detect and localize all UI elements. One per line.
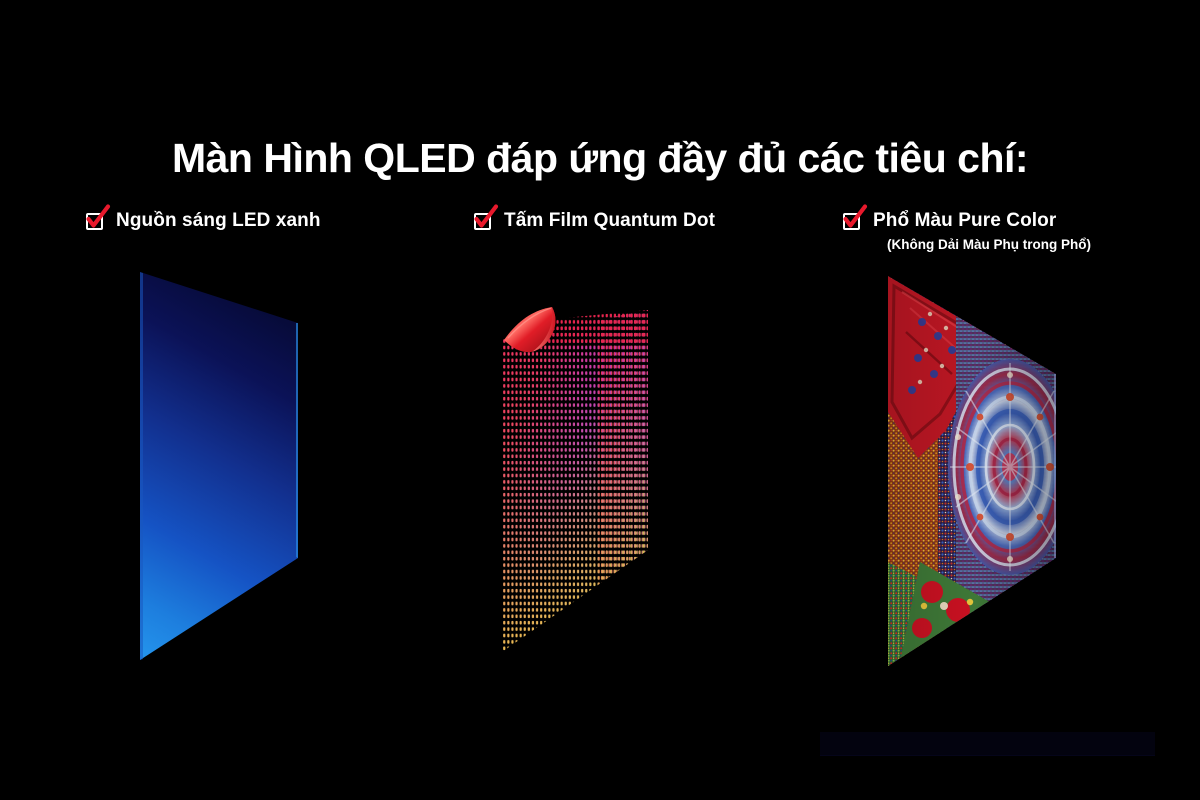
blue-panel-shape bbox=[110, 260, 320, 680]
check-mark-icon bbox=[842, 206, 868, 232]
checklist-item-labels: Tấm Film Quantum Dot bbox=[504, 208, 715, 234]
checklist-item-label: Phổ Màu Pure Color bbox=[873, 208, 1091, 234]
carpet-artwork bbox=[860, 262, 1070, 682]
check-mark-icon bbox=[85, 206, 111, 232]
quantum-dot-film-sheet bbox=[478, 300, 678, 670]
checklist-item-label: Nguồn sáng LED xanh bbox=[116, 208, 321, 234]
checkbox-checked-icon bbox=[86, 211, 107, 232]
slide-canvas: Màn Hình QLED đáp ứng đầy đủ các tiêu ch… bbox=[0, 0, 1200, 800]
checkbox-checked-icon bbox=[843, 211, 864, 232]
bottom-right-plate bbox=[820, 732, 1155, 756]
page-title: Màn Hình QLED đáp ứng đầy đủ các tiêu ch… bbox=[0, 132, 1200, 184]
checklist-item-label: Tấm Film Quantum Dot bbox=[504, 208, 715, 234]
check-mark-icon bbox=[473, 206, 499, 232]
quantum-dot-matrix bbox=[478, 300, 678, 670]
pure-color-carpet-image bbox=[860, 262, 1070, 682]
checklist-item-led-source: Nguồn sáng LED xanh bbox=[86, 208, 321, 234]
checklist-item-quantum-dot-film: Tấm Film Quantum Dot bbox=[474, 208, 715, 234]
blue-led-backlight-panel bbox=[110, 260, 320, 680]
checklist-item-sublabel: (Không Dải Màu Phụ trong Phổ) bbox=[887, 235, 1091, 255]
checklist-item-labels: Nguồn sáng LED xanh bbox=[116, 208, 321, 234]
checklist-item-labels: Phổ Màu Pure Color (Không Dải Màu Phụ tr… bbox=[873, 208, 1091, 255]
checklist-item-pure-color-spectrum: Phổ Màu Pure Color (Không Dải Màu Phụ tr… bbox=[843, 208, 1091, 255]
checkbox-checked-icon bbox=[474, 211, 495, 232]
